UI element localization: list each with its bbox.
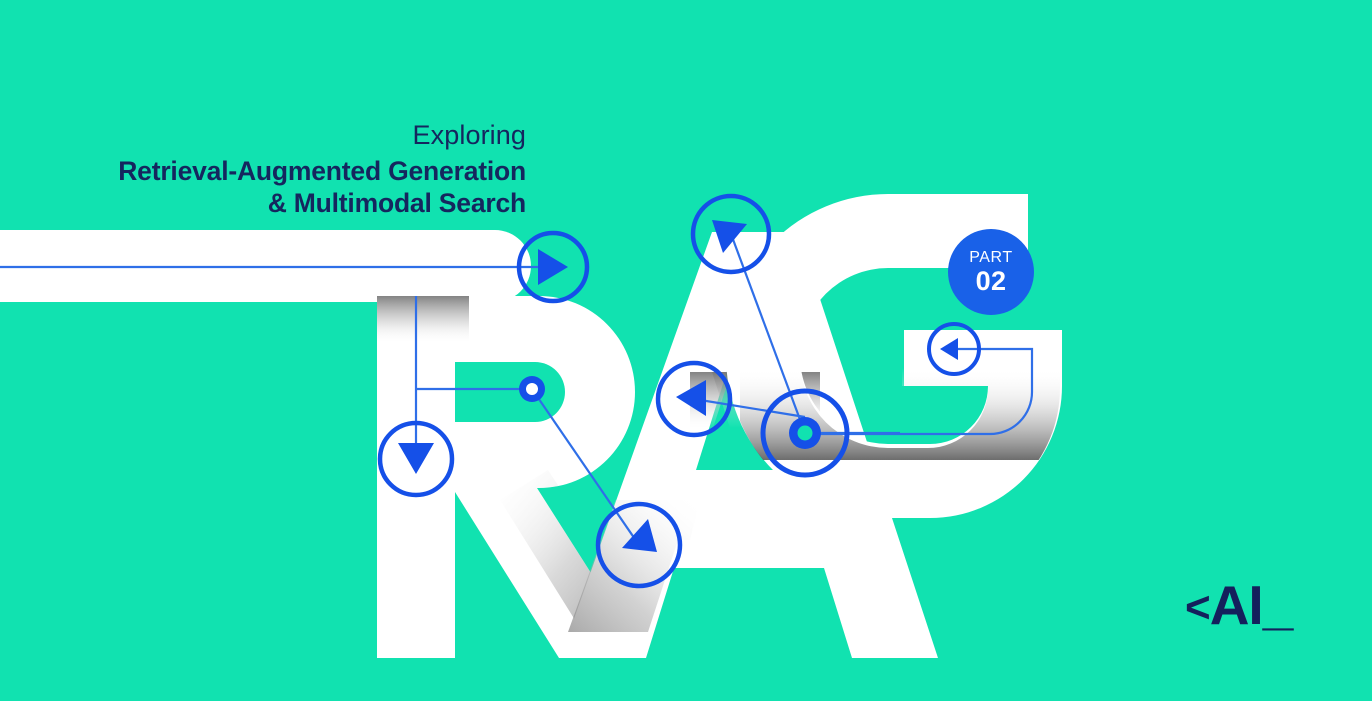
logo-bracket: < [1185,583,1210,632]
part-badge-label: PART [969,250,1013,266]
node-center-hole [798,426,813,441]
hub-node-small[interactable] [519,376,545,402]
part-badge[interactable]: PART 02 [948,229,1034,315]
brand-logo[interactable]: <AI_ [1185,578,1290,633]
poster-canvas: Exploring Retrieval-Augmented Generation… [0,0,1372,701]
logo-underscore: _ [1263,574,1291,636]
part-badge-number: 02 [976,268,1007,295]
wordmark-rag [0,194,1070,660]
arrow-right-icon [538,249,568,285]
logo-word: AI [1210,574,1263,636]
artwork-svg [0,0,1372,701]
node-center-hole [526,383,538,395]
